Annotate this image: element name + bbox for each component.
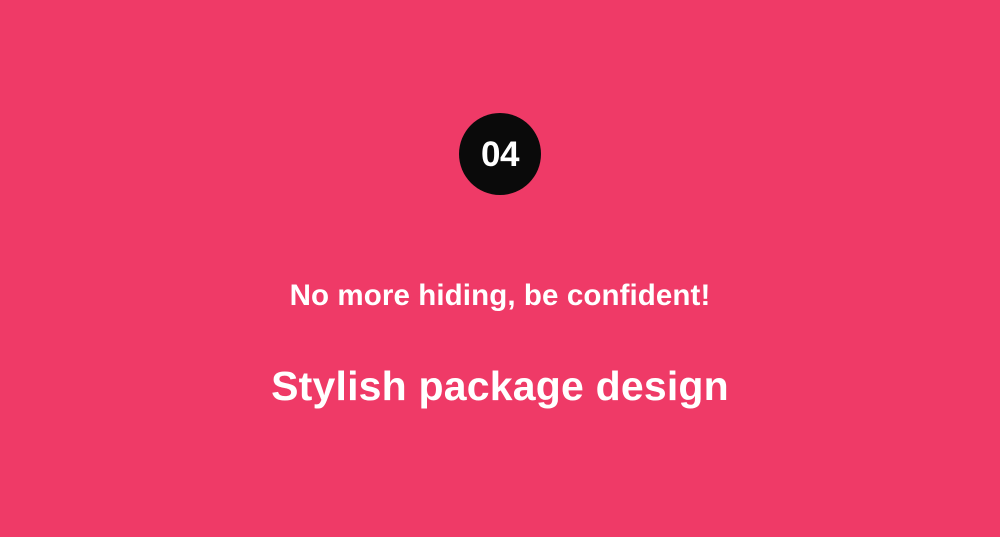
subheadline: No more hiding, be confident! xyxy=(0,276,1000,316)
text-block: No more hiding, be confident! Stylish pa… xyxy=(0,276,1000,414)
step-number-label: 04 xyxy=(481,137,519,172)
headline: Stylish package design xyxy=(0,358,1000,414)
step-number-circle-icon: 04 xyxy=(459,113,541,195)
slide-canvas: 04 No more hiding, be confident! Stylish… xyxy=(0,0,1000,537)
